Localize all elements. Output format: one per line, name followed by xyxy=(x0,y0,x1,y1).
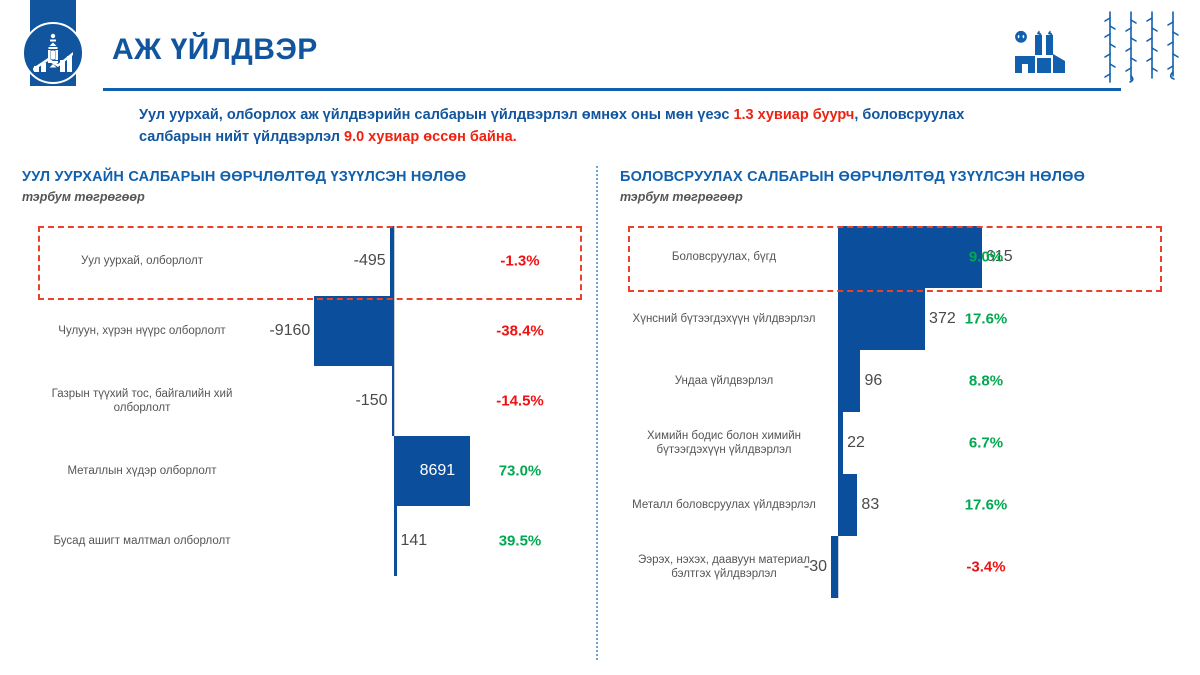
mining-waterfall-chart: Уул уурхай, олборлолт-495-1.3%Чулуун, хү… xyxy=(22,226,582,576)
chart-row: Химийн бодис болон химийн бүтээгдэхүүн ү… xyxy=(620,412,1180,474)
baseline-axis xyxy=(394,226,395,296)
chart-row: Ээрэх, нэхэх, даавуун материал бэлтгэх ү… xyxy=(620,536,1180,598)
soyombo-barchart-logo xyxy=(22,22,84,84)
row-category-label: Чулуун, хүрэн нүүрс олборлолт xyxy=(22,324,262,338)
row-category-label: Ундаа үйлдвэрлэл xyxy=(620,374,828,388)
bar-value-label: 141 xyxy=(401,532,428,550)
bar-value-label: -9160 xyxy=(269,322,310,340)
chart-bar xyxy=(394,506,397,576)
panel-divider xyxy=(596,166,598,660)
factory-icon xyxy=(1013,28,1075,79)
row-category-label: Бусад ашигт малтмал олборлолт xyxy=(22,534,262,548)
subtitle-text-1: Уул уурхай, олборлох аж үйлдвэрийн салба… xyxy=(139,107,733,123)
chart-row: Хүнсний бүтээгдэхүүн үйлдвэрлэл37217.6% xyxy=(620,288,1180,350)
manufacturing-panel-title: БОЛОВСРУУЛАХ САЛБАРЫН ӨӨРЧЛӨЛТӨД ҮЗҮҮЛСЭ… xyxy=(620,168,1180,187)
percent-change-label: -38.4% xyxy=(484,323,556,340)
baseline-axis xyxy=(394,296,395,366)
chart-bar xyxy=(838,288,925,350)
chart-bar xyxy=(831,536,838,598)
chart-bar xyxy=(314,296,394,366)
baseline-axis xyxy=(838,536,839,598)
chart-row: Бусад ашигт малтмал олборлолт14139.5% xyxy=(22,506,582,576)
bar-value-label: -150 xyxy=(355,392,387,410)
mongolian-vertical-script xyxy=(1098,8,1184,88)
row-category-label: Металл боловсруулах үйлдвэрлэл xyxy=(620,498,828,512)
mining-panel-title: УУЛ УУРХАЙН САЛБАРЫН ӨӨРЧЛӨЛТӨД ҮЗҮҮЛСЭН… xyxy=(22,168,582,187)
percent-change-label: 39.5% xyxy=(484,533,556,550)
row-category-label: Ээрэх, нэхэх, даавуун материал бэлтгэх ү… xyxy=(620,553,828,581)
percent-change-label: 17.6% xyxy=(950,497,1022,514)
mining-panel: УУЛ УУРХАЙН САЛБАРЫН ӨӨРЧЛӨЛТӨД ҮЗҮҮЛСЭН… xyxy=(22,168,582,576)
subtitle-highlight-1: 1.3 хувиар буурч xyxy=(733,107,854,123)
row-category-label: Химийн бодис болон химийн бүтээгдэхүүн ү… xyxy=(620,429,828,457)
bar-value-label: 96 xyxy=(864,372,882,390)
bar-value-label: 8691 xyxy=(420,462,456,480)
chart-row: Чулуун, хүрэн нүүрс олборлолт-9160-38.4% xyxy=(22,296,582,366)
row-category-label: Металлын хүдэр олборлолт xyxy=(22,464,262,478)
percent-change-label: 8.8% xyxy=(950,373,1022,390)
mining-panel-unit: тэрбум төгрөгөөр xyxy=(22,190,582,204)
percent-change-label: 17.6% xyxy=(950,311,1022,328)
chart-bar xyxy=(392,366,395,436)
chart-row: Уул уурхай, олборлолт-495-1.3% xyxy=(22,226,582,296)
page-title: АЖ ҮЙЛДВЭР xyxy=(112,33,318,67)
manufacturing-panel-unit: тэрбум төгрөгөөр xyxy=(620,190,1180,204)
percent-change-label: -14.5% xyxy=(484,393,556,410)
chart-row: Газрын түүхий тос, байгалийн хий олборло… xyxy=(22,366,582,436)
chart-row: Металл боловсруулах үйлдвэрлэл8317.6% xyxy=(620,474,1180,536)
manufacturing-waterfall-chart: Боловсруулах, бүгд6159.0%Хүнсний бүтээгд… xyxy=(620,226,1180,598)
chart-bar xyxy=(838,474,857,536)
row-category-label: Уул уурхай, олборлолт xyxy=(22,254,262,268)
chart-row: Металлын хүдэр олборлолт869173.0% xyxy=(22,436,582,506)
bar-value-label: 22 xyxy=(847,434,865,452)
bar-value-label: 83 xyxy=(861,496,879,514)
chart-bar xyxy=(390,226,394,296)
percent-change-label: -1.3% xyxy=(484,253,556,270)
row-category-label: Боловсруулах, бүгд xyxy=(620,250,828,264)
baseline-axis xyxy=(394,366,395,436)
bar-value-label: -30 xyxy=(804,558,827,576)
percent-change-label: 9.0% xyxy=(950,249,1022,266)
chart-bar xyxy=(838,412,843,474)
bar-value-label: -495 xyxy=(354,252,386,270)
chart-row: Боловсруулах, бүгд6159.0% xyxy=(620,226,1180,288)
percent-change-label: 73.0% xyxy=(484,463,556,480)
subtitle: Уул уурхай, олборлох аж үйлдвэрийн салба… xyxy=(139,104,1039,148)
subtitle-highlight-2: 9.0 хувиар өссөн байна. xyxy=(344,129,517,145)
manufacturing-panel: БОЛОВСРУУЛАХ САЛБАРЫН ӨӨРЧЛӨЛТӨД ҮЗҮҮЛСЭ… xyxy=(620,168,1180,598)
percent-change-label: 6.7% xyxy=(950,435,1022,452)
chart-row: Ундаа үйлдвэрлэл968.8% xyxy=(620,350,1180,412)
percent-change-label: -3.4% xyxy=(950,559,1022,576)
header-divider xyxy=(103,88,1121,91)
chart-bar xyxy=(838,350,860,412)
row-category-label: Хүнсний бүтээгдэхүүн үйлдвэрлэл xyxy=(620,312,828,326)
row-category-label: Газрын түүхий тос, байгалийн хий олборло… xyxy=(22,387,262,415)
